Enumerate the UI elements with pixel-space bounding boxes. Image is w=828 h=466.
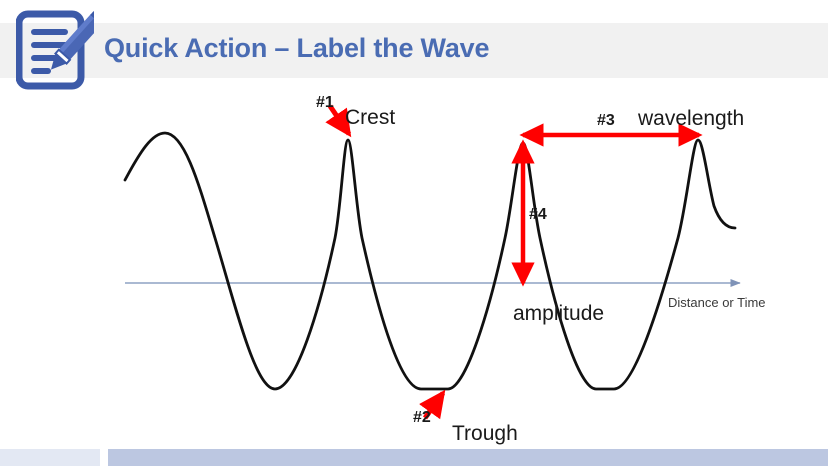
wave-diagram: #1 Crest #2 Trough #3 wavelength #4 ampl… — [0, 78, 828, 448]
annotation-term-wavelength: wavelength — [638, 107, 744, 131]
annotation-term-crest: Crest — [345, 106, 395, 130]
annotation-term-amplitude: amplitude — [513, 302, 604, 326]
annotation-term-trough: Trough — [452, 422, 518, 446]
annotation-tag-2: #2 — [413, 409, 431, 427]
axis-label: Distance or Time — [668, 295, 766, 310]
annotation-tag-1: #1 — [316, 94, 334, 112]
annotation-tag-4: #4 — [529, 206, 547, 224]
footer-bar-right — [108, 449, 828, 466]
wave-graphic — [0, 78, 828, 448]
wave-curve — [125, 133, 735, 389]
annotation-tag-3: #3 — [597, 112, 615, 130]
footer-bar-left — [0, 449, 100, 466]
page-title: Quick Action – Label the Wave — [104, 33, 489, 64]
